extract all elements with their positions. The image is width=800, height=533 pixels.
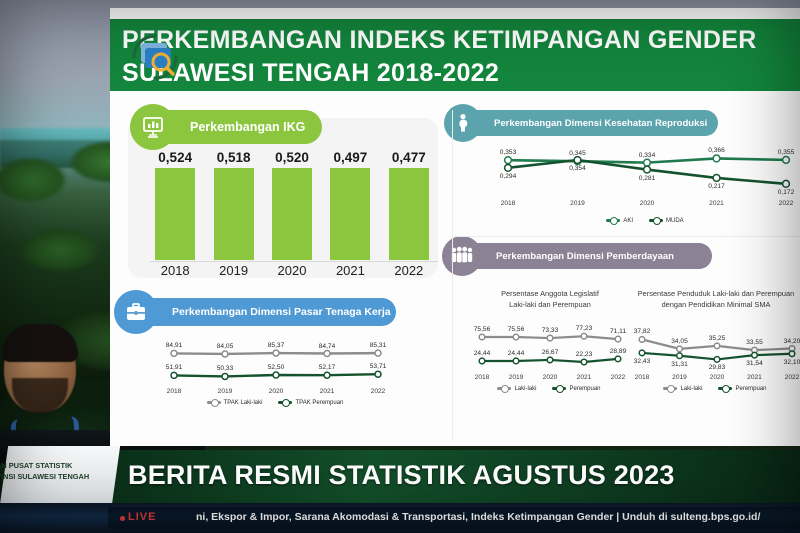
people-group-icon — [442, 236, 482, 276]
pasar-tenaga-kerja-value-label: 52,17 — [319, 364, 336, 371]
anggota-legislatif-value-label: 71,11 — [610, 328, 626, 335]
pill-dimensi-kesehatan-reproduksi[interactable]: Perkembangan Dimensi Kesehatan Reproduks… — [450, 110, 718, 136]
kesehatan-reproduksi-value-label: 0,294 — [500, 173, 517, 180]
pendidikan-minimal-sma-x-label: 2021 — [747, 374, 762, 381]
pendidikan-minimal-sma-value-label: 31,31 — [671, 361, 688, 368]
ikg-bar-value: 0,518 — [217, 150, 251, 165]
pasar-tenaga-kerja-x-label: 2022 — [371, 388, 386, 395]
pendidikan-minimal-sma-value-label: 34,20 — [784, 338, 800, 345]
pasar-tenaga-kerja-value-label: 84,05 — [217, 343, 234, 350]
anggota-legislatif-value-label: 26,67 — [542, 349, 559, 356]
kesehatan-reproduksi-value-label: 0,172 — [778, 189, 795, 196]
kesehatan-reproduksi-x-label: 2021 — [709, 200, 724, 207]
ikg-bar-value: 0,477 — [392, 150, 426, 165]
kesehatan-reproduksi-value-label: 0,354 — [569, 165, 586, 172]
anggota-legislatif-value-label: 73,33 — [542, 327, 559, 334]
pasar-tenaga-kerja-x-label: 2018 — [167, 388, 182, 395]
kesehatan-reproduksi-x-label: 2022 — [779, 200, 794, 207]
organization-line1: AN PUSAT STATISTIK — [0, 460, 112, 471]
anggota-legislatif-value-label: 75,56 — [474, 326, 491, 333]
kesehatan-reproduksi-value-label: 0,334 — [639, 152, 656, 159]
pendidikan-minimal-sma-value-label: 29,83 — [709, 364, 726, 371]
anggota-legislatif-legend-item: Perempuan — [552, 386, 600, 392]
pasar-tenaga-kerja-value-label: 50,33 — [217, 365, 234, 372]
anggota-legislatif-x-label: 2021 — [577, 374, 592, 381]
slide-header-line2: SULAWESI TENGAH 2018-2022 — [122, 57, 798, 90]
legend-swatch-icon — [497, 387, 511, 390]
pendidikan-subtitle-line2: dengan Pendidikan Minimal SMA — [628, 299, 800, 310]
kesehatan-reproduksi-value-label: 0,217 — [708, 183, 725, 190]
ikg-year-label: 2019 — [210, 263, 256, 278]
legend-swatch-icon — [552, 387, 566, 390]
organization-line2: VINSI SULAWESI TENGAH — [0, 471, 112, 482]
folder-search-icon — [124, 26, 186, 88]
divider-horizontal — [455, 236, 800, 237]
kesehatan-reproduksi-labels: 0,3530,3450,3340,3660,3550,2940,3540,281… — [490, 138, 800, 230]
pill-tenaga-kerja-label: Perkembangan Dimensi Pasar Tenaga Kerja — [172, 306, 391, 318]
ikg-axis-line — [150, 261, 438, 262]
lower-third-title: BERITA RESMI STATISTIK AGUSTUS 2023 — [128, 460, 675, 491]
pasar-tenaga-kerja-value-label: 85,31 — [370, 342, 387, 349]
pendidikan-minimal-sma-value-label: 34,05 — [671, 338, 688, 345]
pendidikan-minimal-sma-x-label: 2020 — [710, 374, 725, 381]
pill-kesehatan-label: Perkembangan Dimensi Kesehatan Reproduks… — [494, 118, 707, 129]
pendidikan-minimal-sma-legend: Laki-lakiPerempuan — [630, 386, 800, 392]
anggota-legislatif-x-label: 2022 — [611, 374, 626, 381]
pendidikan-minimal-sma-value-label: 33,55 — [746, 339, 763, 346]
pendidikan-minimal-sma-value-label: 37,82 — [634, 328, 651, 335]
ikg-bar-column: 0,497 — [327, 150, 373, 260]
pill-ikg-label: Perkembangan IKG — [190, 120, 305, 134]
kesehatan-reproduksi-value-label: 0,355 — [778, 149, 795, 156]
ikg-bar-value: 0,520 — [275, 150, 309, 165]
anggota-legislatif-x-label: 2020 — [543, 374, 558, 381]
broadcast-stage: PERKEMBANGAN INDEKS KETIMPANGAN GENDER S… — [0, 0, 800, 533]
kesehatan-reproduksi-value-label: 0,366 — [708, 147, 725, 154]
legend-swatch-icon — [663, 387, 677, 390]
ikg-x-axis-labels: 20182019202020212022 — [152, 263, 432, 278]
kesehatan-reproduksi-value-label: 0,281 — [639, 175, 656, 182]
ikg-bar — [330, 168, 370, 260]
ikg-year-label: 2022 — [386, 263, 432, 278]
kesehatan-reproduksi-legend-label: MUDA — [666, 218, 684, 224]
anggota-legislatif-legend-label: Laki-laki — [514, 386, 536, 392]
ikg-year-label: 2018 — [152, 263, 198, 278]
live-indicator-dot — [120, 516, 125, 521]
pasar-tenaga-kerja-legend-item: TPAK Laki-laki — [207, 400, 263, 406]
pill-pemberdayaan-label: Perkembangan Dimensi Pemberdayaan — [496, 251, 674, 262]
legislatif-subtitle-line2: Laki-laki dan Perempuan — [470, 299, 630, 310]
ikg-bar-column: 0,477 — [386, 150, 432, 260]
ikg-bar-value: 0,497 — [334, 150, 368, 165]
pendidikan-minimal-sma-value-label: 35,25 — [709, 335, 726, 342]
pasar-tenaga-kerja-x-label: 2021 — [320, 388, 335, 395]
kesehatan-reproduksi-legend-item: MUDA — [649, 218, 684, 224]
anggota-legislatif-value-label: 24,44 — [508, 350, 525, 357]
presenter-hair — [2, 324, 78, 362]
pasar-tenaga-kerja-legend: TPAK Laki-lakiTPAK Perempuan — [160, 400, 390, 406]
anggota-legislatif-value-label: 75,56 — [508, 326, 525, 333]
pendidikan-minimal-sma-x-label: 2019 — [672, 374, 687, 381]
kesehatan-reproduksi-x-label: 2019 — [570, 200, 585, 207]
ikg-bar — [214, 168, 254, 260]
pill-dimensi-pasar-tenaga-kerja[interactable]: Perkembangan Dimensi Pasar Tenaga Kerja — [124, 298, 396, 326]
legislatif-subtitle-line1: Persentase Anggota Legislatif — [470, 288, 630, 299]
pendidikan-minimal-sma-legend-item: Perempuan — [718, 386, 766, 392]
ikg-bar-column: 0,524 — [152, 150, 198, 260]
pendidikan-minimal-sma-value-label: 32,10 — [784, 359, 800, 366]
pregnant-woman-icon — [444, 104, 482, 142]
anggota-legislatif-legend: Laki-lakiPerempuan — [470, 386, 628, 392]
ikg-year-label: 2021 — [327, 263, 373, 278]
ikg-bar-chart: 0,5240,5180,5200,4970,477 — [152, 150, 432, 260]
anggota-legislatif-value-label: 77,23 — [576, 325, 593, 332]
ikg-year-label: 2020 — [269, 263, 315, 278]
pill-dimensi-pemberdayaan[interactable]: Perkembangan Dimensi Pemberdayaan — [450, 243, 712, 269]
pasar-tenaga-kerja-legend-label: TPAK Laki-laki — [224, 400, 263, 406]
ikg-bar-column: 0,518 — [210, 150, 256, 260]
ticker-text: ni, Ekspor & Impor, Sarana Akomodasi & T… — [196, 511, 800, 523]
pasar-tenaga-kerja-legend-item: TPAK Perempuan — [278, 400, 343, 406]
ikg-bar — [389, 168, 429, 260]
anggota-legislatif-value-label: 24,44 — [474, 350, 491, 357]
pasar-tenaga-kerja-value-label: 84,91 — [166, 342, 183, 349]
ikg-bar-column: 0,520 — [269, 150, 315, 260]
anggota-legislatif-x-label: 2019 — [509, 374, 524, 381]
pendidikan-subtitle-line1: Persentase Penduduk Laki-laki dan Peremp… — [628, 288, 800, 299]
ikg-bar-value: 0,524 — [158, 150, 192, 165]
pasar-tenaga-kerja-value-label: 84,74 — [319, 343, 336, 350]
kesehatan-reproduksi-x-label: 2018 — [501, 200, 516, 207]
pendidikan-minimal-sma-line-chart: 37,8234,0535,2533,5534,2032,4331,3129,83… — [630, 322, 800, 400]
divider-vertical — [452, 110, 453, 440]
ikg-bar — [155, 168, 195, 260]
anggota-legislatif-value-label: 22,23 — [576, 351, 593, 358]
pasar-tenaga-kerja-labels: 84,9184,0585,3784,7485,3151,9150,3352,50… — [160, 336, 390, 408]
briefcase-icon — [114, 290, 158, 334]
pasar-tenaga-kerja-value-label: 85,37 — [268, 342, 285, 349]
kesehatan-reproduksi-value-label: 0,345 — [569, 150, 586, 157]
slide-header-text: PERKEMBANGAN INDEKS KETIMPANGAN GENDER S… — [122, 24, 798, 90]
pendidikan-minimal-sma-legend-label: Laki-laki — [680, 386, 702, 392]
legend-swatch-icon — [278, 401, 292, 404]
pill-perkembangan-ikg[interactable]: Perkembangan IKG — [134, 110, 322, 144]
pasar-tenaga-kerja-line-chart: 84,9184,0585,3784,7485,3151,9150,3352,50… — [160, 336, 390, 408]
organization-text: AN PUSAT STATISTIK VINSI SULAWESI TENGAH — [0, 460, 112, 482]
anggota-legislatif-x-label: 2018 — [475, 374, 490, 381]
legend-swatch-icon — [207, 401, 221, 404]
pasar-tenaga-kerja-legend-label: TPAK Perempuan — [295, 400, 343, 406]
legend-swatch-icon — [718, 387, 732, 390]
live-badge: LIVE — [128, 511, 156, 523]
pasar-tenaga-kerja-value-label: 51,91 — [166, 364, 183, 371]
pasar-tenaga-kerja-value-label: 52,50 — [268, 364, 285, 371]
anggota-legislatif-legend-label: Perempuan — [569, 386, 600, 392]
anggota-legislatif-value-label: 28,89 — [610, 348, 627, 355]
anggota-legislatif-line-chart: 75,5675,5673,3377,2371,1124,4424,4426,67… — [470, 322, 628, 400]
kesehatan-reproduksi-legend-item: AKI — [606, 218, 633, 224]
pendidikan-minimal-sma-legend-item: Laki-laki — [663, 386, 702, 392]
pendidikan-minimal-sma-value-label: 31,54 — [746, 360, 763, 367]
pendidikan-subtitle: Persentase Penduduk Laki-laki dan Peremp… — [628, 288, 800, 310]
pasar-tenaga-kerja-value-label: 53,71 — [370, 363, 387, 370]
kesehatan-reproduksi-value-label: 0,353 — [500, 149, 517, 156]
pendidikan-minimal-sma-legend-label: Perempuan — [735, 386, 766, 392]
pendidikan-minimal-sma-x-label: 2018 — [635, 374, 650, 381]
legend-swatch-icon — [606, 219, 620, 222]
ikg-bar — [272, 168, 312, 260]
legend-swatch-icon — [649, 219, 663, 222]
kesehatan-reproduksi-legend-label: AKI — [623, 218, 633, 224]
pasar-tenaga-kerja-x-label: 2020 — [269, 388, 284, 395]
pasar-tenaga-kerja-x-label: 2019 — [218, 388, 233, 395]
anggota-legislatif-legend-item: Laki-laki — [497, 386, 536, 392]
kesehatan-reproduksi-x-label: 2020 — [640, 200, 655, 207]
kesehatan-reproduksi-line-chart: 0,3530,3450,3340,3660,3550,2940,3540,281… — [490, 138, 800, 230]
pendidikan-minimal-sma-value-label: 32,43 — [634, 358, 651, 365]
pendidikan-minimal-sma-x-label: 2022 — [785, 374, 800, 381]
legislatif-subtitle: Persentase Anggota Legislatif Laki-laki … — [470, 288, 630, 310]
slide-header-line1: PERKEMBANGAN INDEKS KETIMPANGAN GENDER — [122, 24, 798, 57]
presentation-chart-icon — [130, 104, 176, 150]
kesehatan-reproduksi-legend: AKIMUDA — [490, 218, 800, 224]
